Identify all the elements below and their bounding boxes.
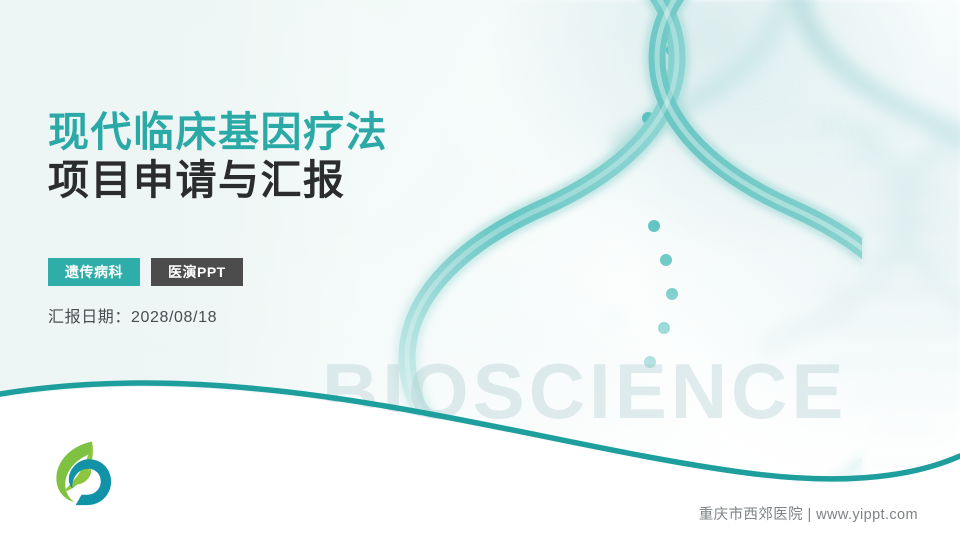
report-date: 汇报日期：2028/08/18 xyxy=(48,303,217,327)
title-line-1: 现代临床基因疗法 xyxy=(48,108,388,156)
presentation-title-slide: BIOSCIENCE 现代临床基因疗法 项目申请与汇报 遗传病科 医演PPT 汇… xyxy=(0,0,960,540)
footer-credit: 重庆市西郊医院 | www.yippt.com xyxy=(699,503,918,524)
slide-title: 现代临床基因疗法 项目申请与汇报 xyxy=(48,108,388,205)
hospital-leaf-logo-icon xyxy=(46,437,120,511)
badge-department[interactable]: 遗传病科 xyxy=(48,258,140,286)
title-line-2: 项目申请与汇报 xyxy=(48,156,388,204)
badge-brand[interactable]: 医演PPT xyxy=(151,258,243,286)
badge-group: 遗传病科 医演PPT xyxy=(48,258,243,286)
